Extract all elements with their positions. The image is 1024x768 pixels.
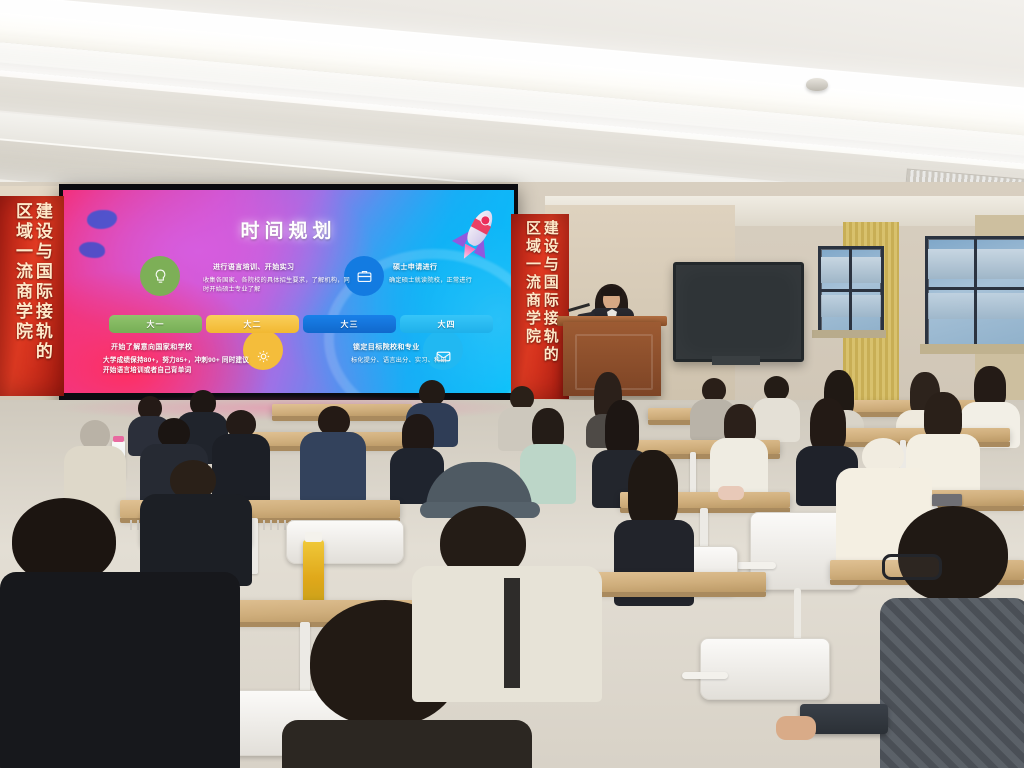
snack-item — [718, 486, 744, 500]
drink-bottle — [303, 540, 324, 604]
eyeglasses-icon — [882, 554, 942, 580]
hand — [776, 716, 816, 740]
audience-member — [710, 404, 768, 496]
slide-heading-year4: 硕士申请进行 — [393, 262, 437, 272]
ceiling — [0, 0, 1024, 205]
window — [818, 246, 884, 338]
slide-body-year4: 确定硕士就读院校，正常进行 — [389, 276, 509, 285]
lightbulb-icon — [140, 256, 180, 302]
led-presentation-screen[interactable]: 时间规划 — [59, 184, 518, 403]
slide-timeline: 大一 大二 大三 大四 — [109, 315, 493, 333]
banner-left-column-a: 区域一流商学院 — [13, 202, 31, 390]
bottle-cap — [305, 532, 322, 542]
window-sill — [920, 344, 1024, 354]
slide-body-year1: 大学成绩保持80+，努力85+，冲刺90+ 同时建议开始语言培训或者自己背单词 — [103, 356, 253, 376]
lecture-hall-photo: 时间规划 — [0, 0, 1024, 768]
banner-right-column-b: 建设与国际接轨的 — [541, 220, 557, 393]
audience-member — [300, 406, 366, 500]
audience-member-foreground — [0, 498, 240, 768]
timeline-segment-year4: 大四 — [400, 315, 493, 333]
banner-right-column-a: 区域一流商学院 — [523, 220, 539, 393]
slide-heading-year3: 锁定目标院校和专业 — [353, 342, 420, 352]
slide-title: 时间规划 — [63, 216, 514, 243]
chair[interactable] — [700, 638, 830, 700]
display-stand — [712, 356, 760, 365]
slide-heading-year1: 开始了解意向国家和学校 — [111, 342, 192, 352]
banner-left: 区域一流商学院 建设与国际接轨的 — [0, 196, 64, 396]
timeline-segment-year2: 大二 — [206, 315, 299, 333]
timeline-segment-year1: 大一 — [109, 315, 202, 333]
smartphone — [932, 494, 962, 506]
window — [925, 236, 1024, 352]
slide-body-year2: 收集各国家、各院校的具体招生要求，了解机构，同时开始硕士专业了解 — [203, 276, 353, 295]
slide-body-year3: 标化提分、语言出分、实习、科研 — [351, 356, 471, 365]
audience-member-foreground — [880, 506, 1024, 768]
banner-right: 区域一流商学院 建设与国际接轨的 — [511, 214, 569, 399]
flat-panel-display[interactable] — [673, 262, 804, 362]
envelope-icon — [423, 330, 463, 376]
timeline-segment-year3: 大三 — [303, 315, 396, 333]
audience-member-capped — [412, 462, 602, 692]
slide-decor-blob — [79, 242, 105, 258]
smoke-detector-icon — [806, 78, 828, 91]
slide-heading-year2: 进行语言培训、开始实习 — [213, 262, 294, 272]
window-sill — [812, 330, 886, 338]
banner-left-column-b: 建设与国际接轨的 — [33, 202, 51, 390]
